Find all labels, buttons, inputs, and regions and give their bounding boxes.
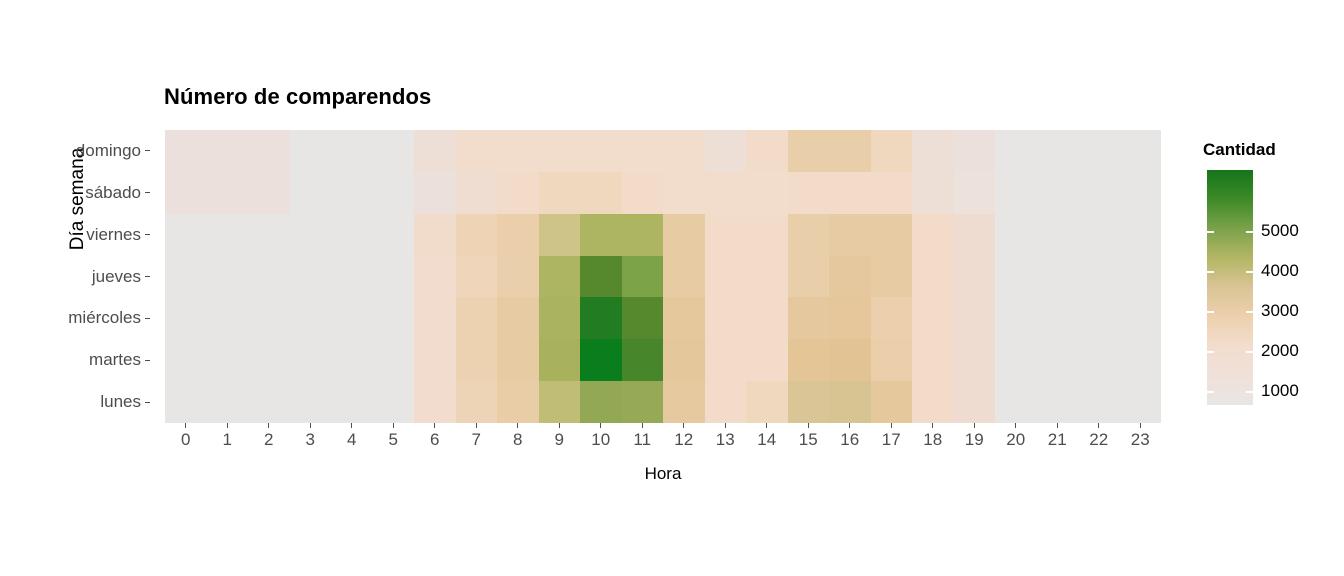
heatmap-cell[interactable]	[331, 381, 373, 423]
y-axis-tick-label: miércoles	[68, 308, 141, 328]
heatmap-cell[interactable]	[165, 256, 207, 298]
heatmap-cell[interactable]	[290, 339, 332, 381]
page-title: Número de comparendos	[164, 84, 431, 110]
y-axis-tick-mark	[145, 234, 150, 235]
heatmap-cell[interactable]	[1037, 297, 1079, 339]
x-axis-tick-label-19: 19	[954, 430, 996, 456]
x-axis-tick-mark-slot	[995, 423, 1037, 428]
heatmap-cell[interactable]	[746, 339, 788, 381]
heatmap-cell[interactable]	[207, 214, 249, 256]
x-axis-tick-mark	[1057, 423, 1058, 428]
heatmap-cell[interactable]	[456, 339, 498, 381]
heatmap-cell[interactable]	[539, 214, 581, 256]
heatmap-cell[interactable]	[290, 130, 332, 172]
x-axis-tick-mark-slot	[622, 423, 664, 428]
legend-tick-mark-left	[1207, 351, 1214, 353]
heatmap-cell[interactable]	[622, 256, 664, 298]
heatmap-cell[interactable]	[746, 297, 788, 339]
x-axis-tick-label-5: 5	[373, 430, 415, 456]
heatmap-row	[165, 130, 1161, 172]
heatmap-cell[interactable]	[663, 297, 705, 339]
heatmap-cell[interactable]	[829, 339, 871, 381]
heatmap-cell[interactable]	[207, 256, 249, 298]
x-axis-tick-mark	[351, 423, 352, 428]
heatmap-cell[interactable]	[331, 297, 373, 339]
x-axis-tick-label-18: 18	[912, 430, 954, 456]
y-axis-tick-1: sábado	[0, 172, 150, 214]
heatmap-cell[interactable]	[539, 297, 581, 339]
heatmap-cell[interactable]	[331, 256, 373, 298]
y-axis-tick-label: martes	[89, 350, 141, 370]
heatmap-cell[interactable]	[248, 214, 290, 256]
heatmap-cell[interactable]	[995, 214, 1037, 256]
heatmap-cell[interactable]	[497, 381, 539, 423]
heatmap-cell[interactable]	[912, 130, 954, 172]
x-axis-tick-mark-slot	[580, 423, 622, 428]
heatmap-cell[interactable]	[580, 381, 622, 423]
x-axis-tick-marks	[165, 423, 1161, 428]
heatmap-cell[interactable]	[663, 130, 705, 172]
heatmap-cell[interactable]	[1037, 172, 1079, 214]
heatmap-cell[interactable]	[165, 339, 207, 381]
x-axis-tick-label-17: 17	[871, 430, 913, 456]
heatmap-cell[interactable]	[290, 297, 332, 339]
x-axis-tick-mark-slot	[414, 423, 456, 428]
heatmap-cell[interactable]	[788, 256, 830, 298]
heatmap-row	[165, 297, 1161, 339]
heatmap-cell[interactable]	[497, 297, 539, 339]
heatmap-cell[interactable]	[829, 256, 871, 298]
heatmap-cell[interactable]	[539, 256, 581, 298]
heatmap-cell[interactable]	[954, 256, 996, 298]
x-axis-tick-label-9: 9	[539, 430, 581, 456]
heatmap-cell[interactable]	[663, 256, 705, 298]
heatmap-cell[interactable]	[1037, 256, 1079, 298]
x-axis-tick-mark-slot	[165, 423, 207, 428]
x-axis-tick-label-11: 11	[622, 430, 664, 456]
x-axis-tick-mark	[1140, 423, 1141, 428]
legend-title: Cantidad	[1203, 140, 1328, 160]
heatmap-cell[interactable]	[954, 172, 996, 214]
heatmap-cell[interactable]	[705, 381, 747, 423]
heatmap-row	[165, 214, 1161, 256]
heatmap-cell[interactable]	[871, 172, 913, 214]
legend-tick-label: 5000	[1261, 221, 1299, 241]
heatmap-cell[interactable]	[207, 381, 249, 423]
legend-body: 50004000300020001000	[1203, 170, 1328, 405]
heatmap-cell[interactable]	[912, 297, 954, 339]
y-axis-tick-mark	[145, 276, 150, 277]
heatmap-cell[interactable]	[414, 172, 456, 214]
heatmap-cell[interactable]	[456, 172, 498, 214]
heatmap-row	[165, 172, 1161, 214]
heatmap-cell[interactable]	[373, 339, 415, 381]
heatmap-cell[interactable]	[995, 339, 1037, 381]
heatmap-cell[interactable]	[912, 339, 954, 381]
heatmap-cell[interactable]	[705, 172, 747, 214]
heatmap-cell[interactable]	[705, 297, 747, 339]
x-axis-tick-label-8: 8	[497, 430, 539, 456]
heatmap-cell[interactable]	[331, 130, 373, 172]
heatmap-cell[interactable]	[373, 256, 415, 298]
heatmap-cell[interactable]	[539, 339, 581, 381]
heatmap-cell[interactable]	[580, 130, 622, 172]
heatmap-cell[interactable]	[248, 172, 290, 214]
heatmap-cell[interactable]	[746, 172, 788, 214]
legend-colorbar	[1207, 170, 1253, 405]
heatmap-cell[interactable]	[207, 297, 249, 339]
y-axis-tick-4: miércoles	[0, 297, 150, 339]
y-axis-tick-label: domingo	[76, 141, 141, 161]
heatmap-figure: Número de comparendos Día semana domingo…	[0, 0, 1344, 576]
x-axis-tick-mark-slot	[871, 423, 913, 428]
heatmap-cell[interactable]	[207, 172, 249, 214]
x-axis-tick-label-1: 1	[207, 430, 249, 456]
x-axis-tick-label-6: 6	[414, 430, 456, 456]
heatmap-cell[interactable]	[1078, 256, 1120, 298]
x-axis-tick-mark	[185, 423, 186, 428]
heatmap-cell[interactable]	[705, 256, 747, 298]
x-axis-tick-mark	[849, 423, 850, 428]
heatmap-cell[interactable]	[829, 214, 871, 256]
heatmap-cell[interactable]	[788, 214, 830, 256]
x-axis-tick-mark-slot	[539, 423, 581, 428]
heatmap-cell[interactable]	[1037, 130, 1079, 172]
heatmap-cell[interactable]	[1037, 339, 1079, 381]
heatmap-cell[interactable]	[414, 130, 456, 172]
x-axis-tick-mark-slot	[746, 423, 788, 428]
heatmap-cell[interactable]	[580, 172, 622, 214]
heatmap-cell[interactable]	[1120, 256, 1162, 298]
y-axis-tick-mark	[145, 192, 150, 193]
x-axis-tick-mark	[393, 423, 394, 428]
heatmap-cell[interactable]	[290, 381, 332, 423]
x-axis-tick-mark-slot	[954, 423, 996, 428]
heatmap-cell[interactable]	[497, 339, 539, 381]
legend: Cantidad 50004000300020001000	[1203, 140, 1328, 405]
x-axis-tick-mark-slot	[705, 423, 747, 428]
heatmap-cell[interactable]	[788, 339, 830, 381]
heatmap-cell[interactable]	[456, 130, 498, 172]
heatmap-cell[interactable]	[1120, 214, 1162, 256]
x-axis-tick-label-3: 3	[290, 430, 332, 456]
x-axis-tick-mark-slot	[1120, 423, 1162, 428]
heatmap-cell[interactable]	[788, 381, 830, 423]
legend-tick-mark-left	[1207, 231, 1214, 233]
heatmap-cell[interactable]	[622, 172, 664, 214]
y-axis-tick-label: lunes	[100, 392, 141, 412]
heatmap-cell[interactable]	[871, 130, 913, 172]
heatmap-cell[interactable]	[373, 172, 415, 214]
heatmap-cell[interactable]	[746, 130, 788, 172]
legend-tick-mark-right	[1246, 351, 1253, 353]
heatmap-cell[interactable]	[165, 214, 207, 256]
heatmap-cell[interactable]	[1078, 214, 1120, 256]
x-axis-tick-mark	[974, 423, 975, 428]
x-axis-tick-mark-slot	[788, 423, 830, 428]
heatmap-cell[interactable]	[331, 172, 373, 214]
heatmap-cell[interactable]	[414, 339, 456, 381]
heatmap-cell[interactable]	[995, 172, 1037, 214]
heatmap-cell[interactable]	[373, 297, 415, 339]
heatmap-cell[interactable]	[1120, 130, 1162, 172]
heatmap-row	[165, 381, 1161, 423]
heatmap-cell[interactable]	[497, 214, 539, 256]
heatmap-cell[interactable]	[746, 256, 788, 298]
x-axis-tick-mark	[559, 423, 560, 428]
heatmap-cell[interactable]	[995, 256, 1037, 298]
heatmap-cell[interactable]	[414, 256, 456, 298]
legend-tick-mark-right	[1246, 311, 1253, 313]
heatmap-cell[interactable]	[539, 130, 581, 172]
x-axis-tick-mark-slot	[290, 423, 332, 428]
heatmap-cell[interactable]	[248, 381, 290, 423]
x-axis-tick-mark	[932, 423, 933, 428]
heatmap-cell[interactable]	[995, 130, 1037, 172]
heatmap-cell[interactable]	[331, 214, 373, 256]
heatmap-cell[interactable]	[165, 381, 207, 423]
legend-tick-label: 4000	[1261, 261, 1299, 281]
heatmap-cell[interactable]	[622, 297, 664, 339]
heatmap-cell[interactable]	[954, 339, 996, 381]
heatmap-cell[interactable]	[1120, 381, 1162, 423]
heatmap-cell[interactable]	[1078, 339, 1120, 381]
heatmap-cell[interactable]	[290, 172, 332, 214]
heatmap-cell[interactable]	[331, 339, 373, 381]
heatmap-cell[interactable]	[995, 381, 1037, 423]
heatmap-row	[165, 256, 1161, 298]
y-axis-tick-label: jueves	[92, 267, 141, 287]
y-axis-tick-mark	[145, 360, 150, 361]
heatmap-cell[interactable]	[580, 339, 622, 381]
legend-tick-label: 2000	[1261, 341, 1299, 361]
heatmap-cell[interactable]	[705, 130, 747, 172]
x-axis-tick-mark	[434, 423, 435, 428]
heatmap-cell[interactable]	[1078, 297, 1120, 339]
heatmap-cell[interactable]	[622, 381, 664, 423]
y-axis-tick-6: lunes	[0, 381, 150, 423]
y-axis-tick-3: jueves	[0, 256, 150, 298]
heatmap-cell[interactable]	[871, 381, 913, 423]
y-axis-tick-5: martes	[0, 339, 150, 381]
heatmap-cell[interactable]	[1120, 297, 1162, 339]
x-axis-tick-mark	[1098, 423, 1099, 428]
legend-tick-mark-right	[1246, 231, 1253, 233]
y-axis-tick-labels: domingosábadoviernesjuevesmiércolesmarte…	[0, 130, 150, 423]
heatmap-cell[interactable]	[248, 297, 290, 339]
x-axis-tick-label-20: 20	[995, 430, 1037, 456]
heatmap-cell[interactable]	[829, 297, 871, 339]
heatmap-cell[interactable]	[788, 130, 830, 172]
heatmap-cell[interactable]	[290, 214, 332, 256]
x-axis-tick-label-10: 10	[580, 430, 622, 456]
heatmap-cell[interactable]	[248, 339, 290, 381]
y-axis-tick-mark	[145, 402, 150, 403]
heatmap-cell[interactable]	[788, 297, 830, 339]
heatmap-cell[interactable]	[207, 339, 249, 381]
x-axis-tick-mark	[766, 423, 767, 428]
heatmap-cell[interactable]	[456, 297, 498, 339]
heatmap-cell[interactable]	[954, 214, 996, 256]
heatmap-cell[interactable]	[663, 214, 705, 256]
heatmap-cell[interactable]	[497, 256, 539, 298]
heatmap-cell[interactable]	[580, 256, 622, 298]
heatmap-cell[interactable]	[165, 297, 207, 339]
x-axis-tick-label-2: 2	[248, 430, 290, 456]
x-axis-tick-label-14: 14	[746, 430, 788, 456]
x-axis-tick-label-13: 13	[705, 430, 747, 456]
heatmap-cell[interactable]	[954, 130, 996, 172]
legend-tick-label: 3000	[1261, 301, 1299, 321]
heatmap-cell[interactable]	[539, 172, 581, 214]
heatmap-cell[interactable]	[248, 256, 290, 298]
x-axis-tick-label-15: 15	[788, 430, 830, 456]
heatmap-cell[interactable]	[414, 381, 456, 423]
heatmap-cell[interactable]	[373, 381, 415, 423]
heatmap-cell[interactable]	[165, 130, 207, 172]
x-axis-tick-labels: 01234567891011121314151617181920212223	[165, 430, 1161, 456]
heatmap-cell[interactable]	[871, 256, 913, 298]
x-axis-tick-mark	[476, 423, 477, 428]
heatmap-cell[interactable]	[954, 297, 996, 339]
heatmap-cell[interactable]	[705, 214, 747, 256]
x-axis-title: Hora	[165, 464, 1161, 484]
heatmap-cell[interactable]	[622, 130, 664, 172]
x-axis-tick-mark-slot	[248, 423, 290, 428]
heatmap-cell[interactable]	[746, 214, 788, 256]
x-axis-tick-mark	[1015, 423, 1016, 428]
heatmap-cell[interactable]	[207, 130, 249, 172]
x-axis-tick-label-16: 16	[829, 430, 871, 456]
heatmap-cell[interactable]	[1078, 381, 1120, 423]
heatmap-cell[interactable]	[912, 381, 954, 423]
heatmap-cell[interactable]	[290, 256, 332, 298]
y-axis-tick-label: sábado	[85, 183, 141, 203]
x-axis-tick-mark-slot	[331, 423, 373, 428]
heatmap-cell[interactable]	[995, 297, 1037, 339]
legend-tick-mark-right	[1246, 391, 1253, 393]
x-axis-tick-mark	[642, 423, 643, 428]
heatmap-row	[165, 339, 1161, 381]
heatmap-cell[interactable]	[1078, 172, 1120, 214]
heatmap-cell[interactable]	[871, 297, 913, 339]
x-axis-tick-mark	[891, 423, 892, 428]
heatmap-cell[interactable]	[788, 172, 830, 214]
y-axis-tick-mark	[145, 318, 150, 319]
legend-tick-label: 1000	[1261, 381, 1299, 401]
legend-tick-mark-left	[1207, 391, 1214, 393]
x-axis-tick-label-4: 4	[331, 430, 373, 456]
heatmap-cell[interactable]	[248, 130, 290, 172]
heatmap-cell[interactable]	[663, 381, 705, 423]
x-axis-tick-mark-slot	[1037, 423, 1079, 428]
heatmap-cell[interactable]	[912, 256, 954, 298]
heatmap-cell[interactable]	[539, 381, 581, 423]
heatmap-cell[interactable]	[456, 256, 498, 298]
heatmap-cell[interactable]	[663, 172, 705, 214]
heatmap-cell[interactable]	[414, 297, 456, 339]
heatmap-cell[interactable]	[580, 297, 622, 339]
x-axis-tick-mark-slot	[829, 423, 871, 428]
x-axis-tick-mark	[725, 423, 726, 428]
heatmap-cell[interactable]	[1037, 381, 1079, 423]
x-axis-tick-mark	[227, 423, 228, 428]
legend-tick-mark-left	[1207, 311, 1214, 313]
heatmap-cell[interactable]	[871, 214, 913, 256]
heatmap-cell[interactable]	[746, 381, 788, 423]
heatmap-cell[interactable]	[622, 339, 664, 381]
x-axis-tick-mark-slot	[1078, 423, 1120, 428]
heatmap-cell[interactable]	[456, 214, 498, 256]
heatmap-cell[interactable]	[829, 130, 871, 172]
legend-tick-mark-left	[1207, 271, 1214, 273]
heatmap-cell[interactable]	[1037, 214, 1079, 256]
x-axis-tick-mark	[683, 423, 684, 428]
x-axis-tick-label-21: 21	[1037, 430, 1079, 456]
heatmap-cell[interactable]	[705, 339, 747, 381]
y-axis-tick-mark	[145, 150, 150, 151]
heatmap-cell[interactable]	[663, 339, 705, 381]
x-axis-tick-mark	[517, 423, 518, 428]
y-axis-tick-2: viernes	[0, 214, 150, 256]
x-axis-tick-mark-slot	[456, 423, 498, 428]
heatmap-cell[interactable]	[1120, 172, 1162, 214]
x-axis-tick-label-7: 7	[456, 430, 498, 456]
x-axis-tick-mark	[600, 423, 601, 428]
heatmap-cell[interactable]	[622, 214, 664, 256]
x-axis-tick-label-22: 22	[1078, 430, 1120, 456]
x-axis-tick-label-12: 12	[663, 430, 705, 456]
heatmap-cell[interactable]	[954, 381, 996, 423]
heatmap-cell[interactable]	[497, 172, 539, 214]
heatmap-cell[interactable]	[829, 172, 871, 214]
heatmap-cell[interactable]	[414, 214, 456, 256]
x-axis-tick-mark-slot	[373, 423, 415, 428]
heatmap-cell[interactable]	[456, 381, 498, 423]
heatmap-cell[interactable]	[580, 214, 622, 256]
heatmap-cell[interactable]	[1120, 339, 1162, 381]
x-axis-tick-mark-slot	[497, 423, 539, 428]
heatmap-cell[interactable]	[1078, 130, 1120, 172]
heatmap-cell[interactable]	[829, 381, 871, 423]
x-axis-tick-mark	[808, 423, 809, 428]
y-axis-tick-0: domingo	[0, 130, 150, 172]
heatmap-cell[interactable]	[871, 339, 913, 381]
heatmap-cell[interactable]	[912, 172, 954, 214]
heatmap-plot-panel	[165, 130, 1161, 423]
heatmap-cell[interactable]	[373, 214, 415, 256]
x-axis-tick-label-0: 0	[165, 430, 207, 456]
x-axis-tick-mark-slot	[663, 423, 705, 428]
x-axis-tick-mark-slot	[207, 423, 249, 428]
x-axis-tick-mark-slot	[912, 423, 954, 428]
x-axis-tick-mark	[268, 423, 269, 428]
heatmap-cell[interactable]	[497, 130, 539, 172]
x-axis-tick-label-23: 23	[1120, 430, 1162, 456]
legend-tick-mark-right	[1246, 271, 1253, 273]
x-axis-tick-mark	[310, 423, 311, 428]
heatmap-cell[interactable]	[165, 172, 207, 214]
y-axis-tick-label: viernes	[86, 225, 141, 245]
heatmap-cell[interactable]	[912, 214, 954, 256]
heatmap-cell[interactable]	[373, 130, 415, 172]
